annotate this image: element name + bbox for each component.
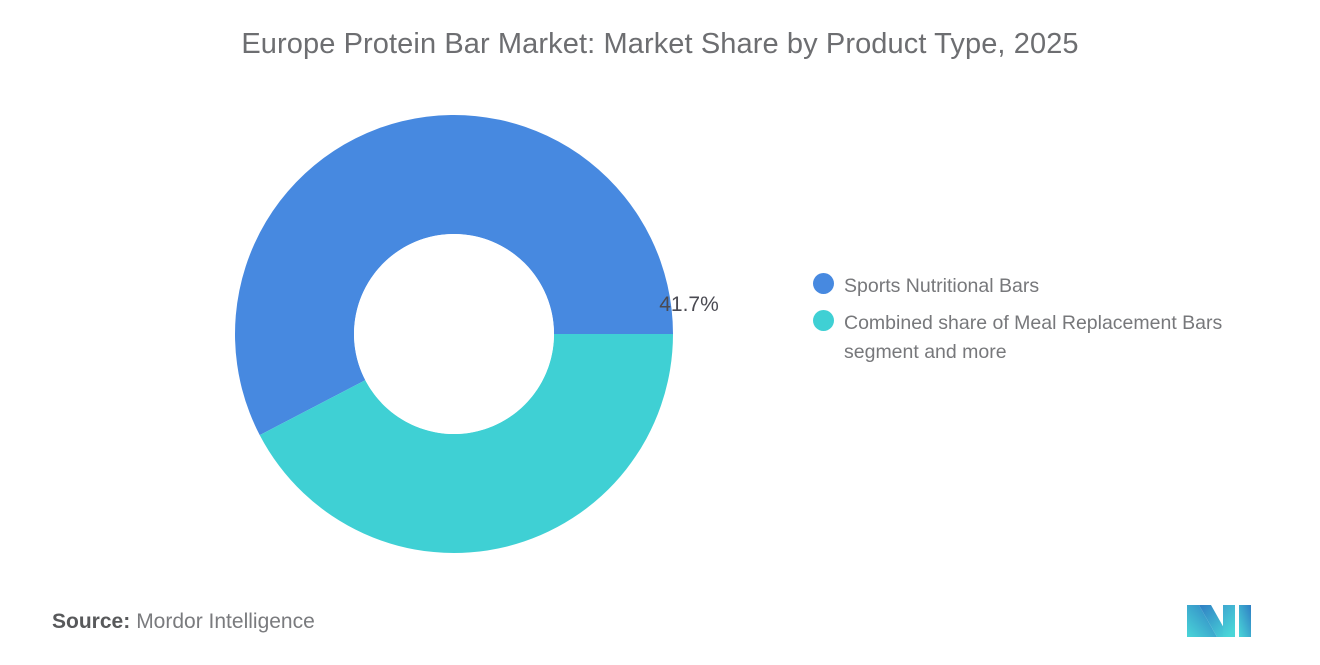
source-label: Source:	[52, 610, 130, 633]
source-line: Source:Mordor Intelligence	[52, 610, 315, 634]
legend-item-sports-nutritional-bars[interactable]: Sports Nutritional Bars	[813, 272, 1293, 301]
legend-swatch-icon	[813, 273, 834, 294]
source-value: Mordor Intelligence	[136, 610, 315, 633]
donut-hole	[354, 234, 554, 434]
donut-chart: 41.7%	[233, 113, 675, 555]
legend-item-combined-share[interactable]: Combined share of Meal Replacement Bars …	[813, 309, 1293, 367]
donut-svg	[233, 113, 675, 555]
legend-swatch-icon	[813, 310, 834, 331]
logo-svg	[1183, 599, 1263, 641]
legend: Sports Nutritional Bars Combined share o…	[813, 272, 1293, 375]
legend-item-label: Combined share of Meal Replacement Bars …	[844, 309, 1284, 367]
legend-item-label: Sports Nutritional Bars	[844, 272, 1039, 301]
chart-container: Europe Protein Bar Market: Market Share …	[0, 0, 1320, 665]
page-title: Europe Protein Bar Market: Market Share …	[0, 28, 1320, 61]
mordor-intelligence-logo-icon	[1183, 599, 1263, 641]
